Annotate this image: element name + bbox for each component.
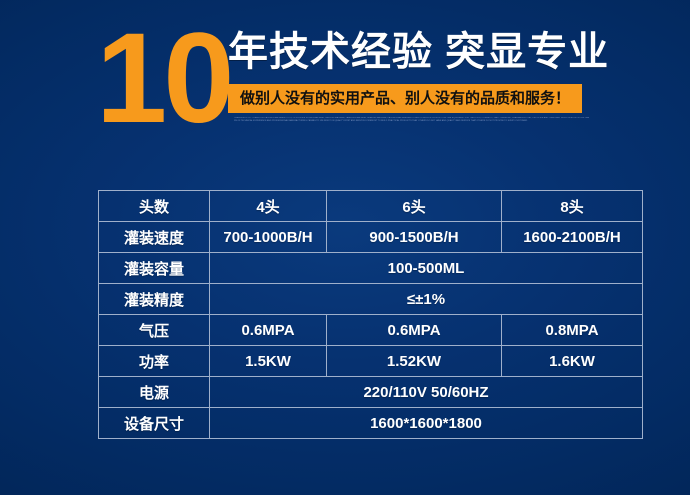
row-value-cell: 1600*1600*1800	[210, 408, 643, 439]
row-value-cell: 1600-2100B/H	[502, 222, 643, 253]
years-number: 10	[96, 14, 236, 144]
row-value-cell: 6头	[327, 191, 502, 222]
row-label-cell: 灌装精度	[99, 284, 210, 315]
row-label-cell: 设备尺寸	[99, 408, 210, 439]
row-label-cell: 气压	[99, 315, 210, 346]
row-label-cell: 头数	[99, 191, 210, 222]
row-value-cell: 4头	[210, 191, 327, 222]
header-band: 10 年技术经验 突显专业 做别人没有的实用产品、别人没有的品质和服务！ CHA…	[0, 0, 690, 160]
headline-text: 年技术经验 突显专业	[228, 26, 628, 78]
row-value-cell: 1.52KW	[327, 346, 502, 377]
fine-print-text: CHANGZHOU CITY LIANGYOU PACKING MACHINER…	[234, 117, 590, 139]
table-row: 设备尺寸1600*1600*1800	[99, 408, 643, 439]
row-label-cell: 灌装容量	[99, 253, 210, 284]
table-row: 头数4头6头8头	[99, 191, 643, 222]
row-value-cell: 0.6MPA	[327, 315, 502, 346]
table-row: 灌装精度≤±1%	[99, 284, 643, 315]
promo-banner-page: 10 年技术经验 突显专业 做别人没有的实用产品、别人没有的品质和服务！ CHA…	[0, 0, 690, 495]
row-value-cell: 8头	[502, 191, 643, 222]
row-value-cell: 700-1000B/H	[210, 222, 327, 253]
row-value-cell: 220/110V 50/60HZ	[210, 377, 643, 408]
specification-table: 头数4头6头8头灌装速度700-1000B/H900-1500B/H1600-2…	[98, 190, 643, 439]
row-value-cell: 900-1500B/H	[327, 222, 502, 253]
row-value-cell: 1.5KW	[210, 346, 327, 377]
specification-table-body: 头数4头6头8头灌装速度700-1000B/H900-1500B/H1600-2…	[99, 191, 643, 439]
row-value-cell: ≤±1%	[210, 284, 643, 315]
row-label-cell: 电源	[99, 377, 210, 408]
row-value-cell: 100-500ML	[210, 253, 643, 284]
row-value-cell: 0.8MPA	[502, 315, 643, 346]
row-label-cell: 灌装速度	[99, 222, 210, 253]
subbanner-text: 做别人没有的实用产品、别人没有的品质和服务！	[240, 84, 570, 113]
row-value-cell: 1.6KW	[502, 346, 643, 377]
row-value-cell: 0.6MPA	[210, 315, 327, 346]
subbanner-strip: 做别人没有的实用产品、别人没有的品质和服务！	[228, 84, 582, 113]
table-row: 灌装容量100-500ML	[99, 253, 643, 284]
table-row: 电源220/110V 50/60HZ	[99, 377, 643, 408]
table-row: 功率1.5KW1.52KW1.6KW	[99, 346, 643, 377]
row-label-cell: 功率	[99, 346, 210, 377]
table-row: 灌装速度700-1000B/H900-1500B/H1600-2100B/H	[99, 222, 643, 253]
table-row: 气压0.6MPA0.6MPA0.8MPA	[99, 315, 643, 346]
